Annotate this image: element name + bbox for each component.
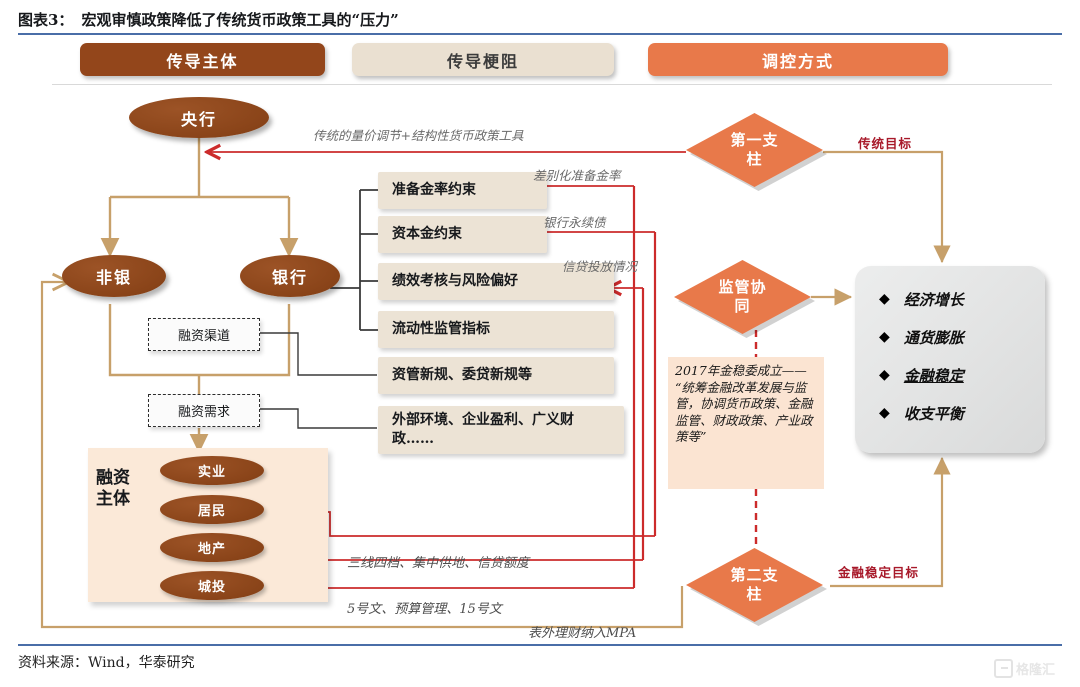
edge-label-credit-execution: 信贷投放情况: [562, 256, 637, 275]
edge-label-doc-five: 5号文、预算管理、15号文: [347, 598, 502, 617]
diamond-bullet-icon: ◆: [879, 291, 890, 307]
node-central-bank[interactable]: 央行: [129, 97, 269, 138]
entity-residents[interactable]: 居民: [160, 495, 264, 524]
pillar-two-line1: 第二支: [730, 566, 778, 584]
edge-label-differentiated-rrr: 差别化准备金率: [533, 165, 621, 184]
node-financing-channel[interactable]: 融资渠道: [148, 318, 260, 351]
watermark-mark-icon: [994, 659, 1013, 678]
coordination-line1: 监管协: [718, 278, 766, 296]
constraint-box-amc-rules[interactable]: 资管新规、委贷新规等: [378, 357, 614, 394]
target-label-financial-stability: 金融稳定: [904, 365, 964, 386]
target-label-growth: 经济增长: [904, 289, 964, 310]
target-item: ◆ 经济增长: [855, 280, 1045, 318]
constraint-box-reserve-ratio[interactable]: 准备金率约束: [378, 172, 547, 209]
pillar-two-line2: 柱: [746, 585, 762, 603]
entity-lgfv[interactable]: 城投: [160, 571, 264, 600]
source-note: 资料来源：Wind，华泰研究: [18, 652, 195, 672]
pillar-one-line1: 第一支: [730, 131, 778, 149]
target-label-balance: 收支平衡: [904, 403, 964, 424]
constraint-box-external-env[interactable]: 外部环境、企业盈利、广义财政……: [378, 406, 624, 454]
entity-industry[interactable]: 实业: [160, 456, 264, 485]
edge-label-traditional-goal: 传统目标: [858, 133, 912, 152]
policy-targets-box: ◆ 经济增长 ◆ 通货膨胀 ◆ 金融稳定 ◆ 收支平衡: [855, 266, 1045, 453]
edge-label-bank-perpetual-bond: 银行永续债: [543, 212, 606, 231]
target-item: ◆ 通货膨胀: [855, 318, 1045, 356]
node-financing-demand[interactable]: 融资需求: [148, 394, 260, 427]
target-item: ◆ 收支平衡: [855, 394, 1045, 432]
note-box-fsdc: 2017年金稳委成立——“统筹金融改革发展与监管，协调货币政策、金融监管、财政政…: [668, 357, 824, 489]
watermark-logo: 格隆汇: [994, 659, 1055, 678]
edge-label-three-red-lines: 三线四档、集中供地、信贷额度: [347, 552, 529, 571]
diamond-bullet-icon: ◆: [879, 329, 890, 345]
watermark-text: 格隆汇: [1016, 659, 1055, 678]
constraint-box-liquidity[interactable]: 流动性监管指标: [378, 311, 614, 348]
edge-label-traditional-tools: 传统的量价调节+结构性货币政策工具: [313, 125, 523, 144]
node-nonbank[interactable]: 非银: [62, 255, 166, 297]
edge-label-off-balance-mpa: 表外理财纳入MPA: [528, 622, 636, 641]
footer-divider: [18, 644, 1062, 646]
figure-canvas: 图表3： 宏观审慎政策降低了传统货币政策工具的“压力” 传导主体 传导梗阻 调控…: [0, 0, 1080, 687]
entity-real-estate[interactable]: 地产: [160, 533, 264, 562]
diamond-bullet-icon: ◆: [879, 405, 890, 421]
target-item: ◆ 金融稳定: [855, 356, 1045, 394]
financing-subject-label: 融资主体: [96, 468, 130, 509]
node-bank[interactable]: 银行: [240, 255, 340, 297]
diamond-bullet-icon: ◆: [879, 367, 890, 383]
constraint-box-capital[interactable]: 资本金约束: [378, 216, 547, 253]
target-label-inflation: 通货膨胀: [904, 327, 964, 348]
pillar-one-line2: 柱: [746, 150, 762, 168]
edge-label-financial-stability-goal: 金融稳定目标: [838, 562, 919, 581]
coordination-line2: 同: [734, 297, 750, 315]
